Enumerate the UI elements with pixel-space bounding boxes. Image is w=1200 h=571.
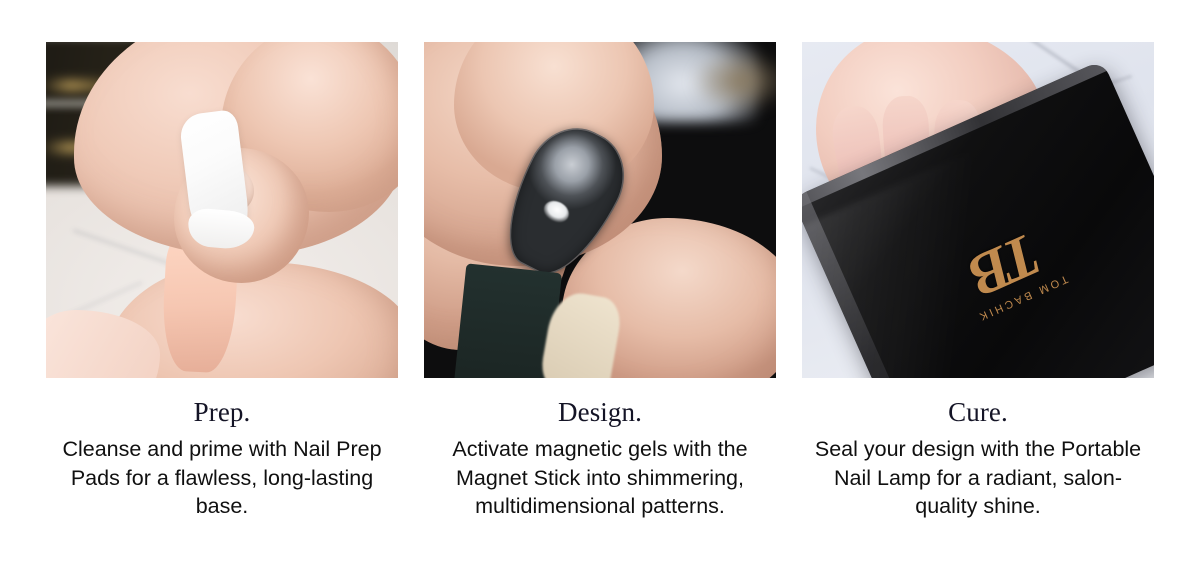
step-card-design: Design. Activate magnetic gels with the … xyxy=(424,42,776,521)
prep-photo xyxy=(46,42,398,378)
step-title: Prep. xyxy=(46,396,398,428)
step-description: Seal your design with the Portable Nail … xyxy=(802,435,1154,521)
step-card-cure: TOM BACHIK TB Cure. Seal your design wit… xyxy=(802,42,1154,521)
design-caption: Design. Activate magnetic gels with the … xyxy=(424,378,776,521)
steps-grid: Prep. Cleanse and prime with Nail Prep P… xyxy=(0,0,1200,521)
cure-photo: TOM BACHIK TB xyxy=(802,42,1154,378)
cure-caption: Cure. Seal your design with the Portable… xyxy=(802,378,1154,521)
background-bokeh-warm xyxy=(686,46,776,116)
step-title: Cure. xyxy=(802,396,1154,428)
step-title: Design. xyxy=(424,396,776,428)
design-photo xyxy=(424,42,776,378)
step-description: Activate magnetic gels with the Magnet S… xyxy=(424,435,776,521)
step-card-prep: Prep. Cleanse and prime with Nail Prep P… xyxy=(46,42,398,521)
prep-caption: Prep. Cleanse and prime with Nail Prep P… xyxy=(46,378,398,521)
step-description: Cleanse and prime with Nail Prep Pads fo… xyxy=(46,435,398,521)
